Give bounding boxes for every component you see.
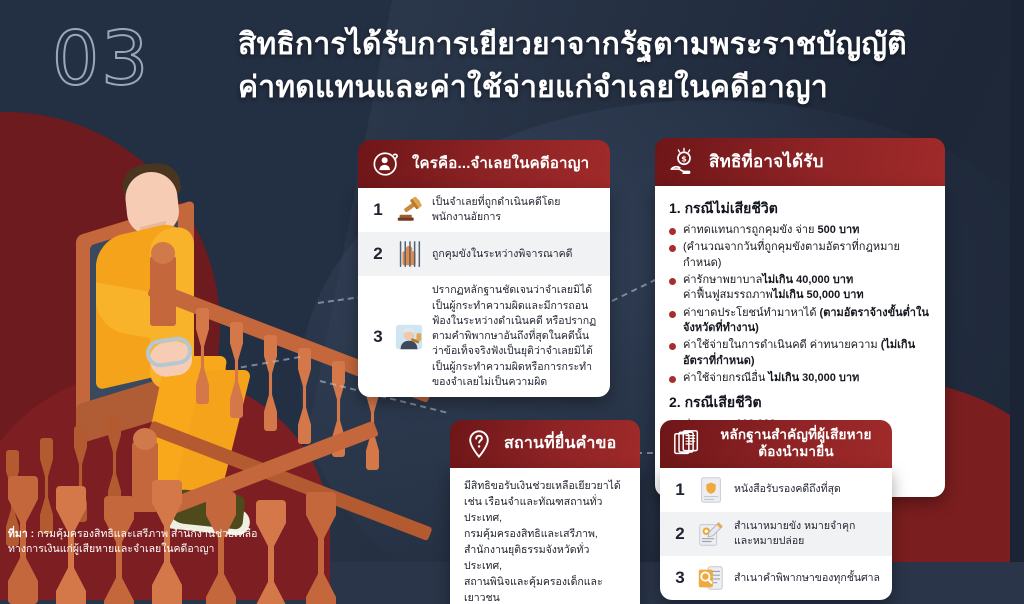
page-title: สิทธิการได้รับการเยียวยาจากรัฐตามพระราชบ… — [238, 24, 1018, 109]
hand-coin-icon: $ — [669, 147, 699, 177]
card-docs-body: 1 หนังสือรับรองคดีถึงที่สุด 2 — [660, 468, 892, 600]
bullet-text: ค่าใช้จ่ายกรณีอื่น — [683, 372, 768, 384]
bullet-subbold: ไม่เกิน 50,000 บาท — [773, 289, 864, 301]
bullet-dot — [669, 278, 676, 285]
certificate-doc-icon — [696, 475, 726, 505]
page-title-line2: ค่าทดแทนและค่าใช้จ่ายแก่จำเลยในคดีอาญา — [238, 67, 1018, 110]
rights-bullet: ค่ารักษาพยาบาลไม่เกิน 40,000 บาท ค่าฟื้น… — [669, 273, 931, 304]
bullet-text: ค่าใช้จ่ายในการดำเนินคดี ค่าทนายความ — [683, 339, 881, 351]
person-question-icon — [372, 149, 402, 179]
card-rights-title: สิทธิที่อาจได้รับ — [709, 151, 824, 172]
railing-post-cap — [151, 242, 175, 264]
footer-source: ที่มา : กรมคุ้มครองสิทธิและเสรีภาพ สำนัก… — [8, 527, 338, 559]
place-line: กรมคุ้มครองสิทธิและเสรีภาพ, — [464, 527, 626, 543]
footer-source-line1: กรมคุ้มครองสิทธิและเสรีภาพ สำนักงานช่วยเ… — [34, 528, 257, 540]
card-who-body: 1 เป็นจำเลยที่ถูกดำเนินคดีโดยพนักงานอัยก… — [358, 188, 610, 397]
bullet-text: ค่ารักษาพยาบาล — [683, 274, 762, 286]
card-filing-place: สถานที่ยื่นคำขอ มีสิทธิขอรับเงินช่วยเหลื… — [450, 420, 640, 604]
baluster — [298, 348, 311, 444]
list-item-text: ปรากฏหลักฐานชัดเจนว่าจำเลยมิได้เป็นผู้กร… — [432, 283, 598, 390]
card-who-is-defendant: ใครคือ...จำเลยในคดีอาญา 1 เป็ — [358, 140, 610, 397]
bullet-text: ค่าขาดประโยชน์ทำมาหาได้ — [683, 307, 820, 319]
place-line: สำนักงานยุติธรรมจังหวัดทั่วประเทศ, — [464, 543, 626, 575]
bullet-subtext: ค่าฟื้นฟูสมรรถภาพ — [683, 289, 773, 301]
railing-post-top — [150, 256, 176, 326]
list-item-number: 2 — [672, 524, 688, 544]
list-item-number: 3 — [370, 327, 386, 347]
card-rights-header: $ สิทธิที่อาจได้รับ — [655, 138, 945, 186]
rights-section-heading: 2. กรณีเสียชีวิต — [669, 392, 931, 414]
card-docs-header: หลักฐานสำคัญที่ผู้เสียหาย ต้องนำมายื่น — [660, 420, 892, 468]
list-item-text: สำเนาคำพิพากษาของทุกชั้นศาล — [734, 571, 880, 586]
list-item-text: สำเนาหมายขัง หมายจำคุก และหมายปล่อย — [734, 519, 855, 549]
list-item-number: 3 — [672, 568, 688, 588]
svg-text:$: $ — [681, 155, 687, 164]
bullet-dot — [669, 376, 676, 383]
card-who-title: ใครคือ...จำเลยในคดีอาญา — [412, 155, 589, 174]
page-title-line1: สิทธิการได้รับการเยียวยาจากรัฐตามพระราชบ… — [238, 28, 907, 61]
rights-bullet: ค่าใช้จ่ายในการดำเนินคดี ค่าทนายความ (ไม… — [669, 338, 931, 369]
place-line: สถานพินิจและคุ้มครองเด็กและเยาวชน — [464, 575, 626, 604]
list-item-number: 2 — [370, 244, 386, 264]
list-item[interactable]: 2 สำเนาหมายขัง หมายจำคุก และหมา — [660, 512, 892, 556]
bullet-dot — [669, 343, 676, 350]
rights-bullet: ค่าทดแทนการถูกคุมขัง จ่าย 500 บาท — [669, 223, 931, 239]
prison-bars-icon — [394, 239, 424, 269]
card-place-body: มีสิทธิขอรับเงินช่วยเหลือเยียวยาได้ เช่น… — [450, 468, 640, 604]
railing-post-cap — [133, 428, 157, 450]
list-item-text: เป็นจำเลยที่ถูกดำเนินคดีโดยพนักงานอัยการ — [432, 195, 598, 225]
gavel-icon — [394, 195, 424, 225]
footer-source-label: ที่มา : — [8, 528, 34, 540]
card-docs-title-line2: ต้องนำมายื่น — [712, 444, 880, 461]
list-item[interactable]: 1 หนังสือรับรองคดีถึงที่สุด — [660, 468, 892, 512]
list-item[interactable]: 3 สำเนาคำพิพาก — [660, 556, 892, 600]
bullet-dot — [669, 245, 676, 252]
location-question-icon — [464, 429, 494, 459]
bullet-bold: ไม่เกิน 30,000 บาท — [768, 372, 859, 384]
judge-icon — [394, 322, 424, 352]
magnifier-doc-icon — [696, 563, 726, 593]
bullet-bold: 500 บาท — [818, 224, 860, 236]
card-place-title: สถานที่ยื่นคำขอ — [504, 434, 616, 454]
card-required-documents: หลักฐานสำคัญที่ผู้เสียหาย ต้องนำมายื่น 1 — [660, 420, 892, 600]
signed-doc-pen-icon — [696, 519, 726, 549]
infographic-root: 03 สิทธิการได้รับการเยียวยาจากรัฐตามพระร… — [0, 0, 1024, 604]
list-item-number: 1 — [370, 200, 386, 220]
rights-bullet: ค่าขาดประโยชน์ทำมาหาได้ (ตามอัตราจ้างขั้… — [669, 306, 931, 337]
list-item-text: หนังสือรับรองคดีถึงที่สุด — [734, 482, 841, 497]
list-item[interactable]: 3 ปรากฏหลักฐานชัดเจนว่าจำเลยมิได้เป็นผู้… — [358, 276, 610, 397]
rights-bullet: (คำนวณจากวันที่ถูกคุมขังตามอัตราที่กฎหมา… — [669, 240, 931, 271]
list-item[interactable]: 1 เป็นจำเลยที่ถูกดำเนินคดีโดยพนักงานอัยก… — [358, 188, 610, 232]
baluster — [264, 335, 277, 431]
bullet-dot — [669, 311, 676, 318]
card-docs-title-line1: หลักฐานสำคัญที่ผู้เสียหาย — [712, 427, 880, 444]
section-number: 03 — [52, 22, 150, 96]
bullet-text: (คำนวณจากวันที่ถูกคุมขังตามอัตราที่กฎหมา… — [683, 240, 931, 271]
place-line: มีสิทธิขอรับเงินช่วยเหลือเยียวยาได้ — [464, 479, 626, 495]
list-item-number: 1 — [672, 480, 688, 500]
bullet-dot — [669, 228, 676, 235]
bullet-bold: ไม่เกิน 40,000 บาท — [762, 274, 853, 286]
card-place-header: สถานที่ยื่นคำขอ — [450, 420, 640, 468]
rights-bullet: ค่าใช้จ่ายกรณีอื่น ไม่เกิน 30,000 บาท — [669, 371, 931, 387]
place-line: เช่น เรือนจำและทัณฑสถานทั่วประเทศ, — [464, 495, 626, 527]
footer-source-line2: ทางการเงินแก่ผู้เสียหายและจำเลยในคดีอาญา — [8, 542, 338, 558]
card-who-header: ใครคือ...จำเลยในคดีอาญา — [358, 140, 610, 188]
documents-stack-icon — [672, 429, 702, 459]
rights-section-heading: 1. กรณีไม่เสียชีวิต — [669, 198, 931, 220]
list-item[interactable]: 2 ถูกคุมขังในระหว่างพิจาร — [358, 232, 610, 276]
bullet-text: ค่าทดแทนการถูกคุมขัง จ่าย — [683, 224, 818, 236]
list-item-text: ถูกคุมขังในระหว่างพิจารณาคดี — [432, 247, 572, 262]
